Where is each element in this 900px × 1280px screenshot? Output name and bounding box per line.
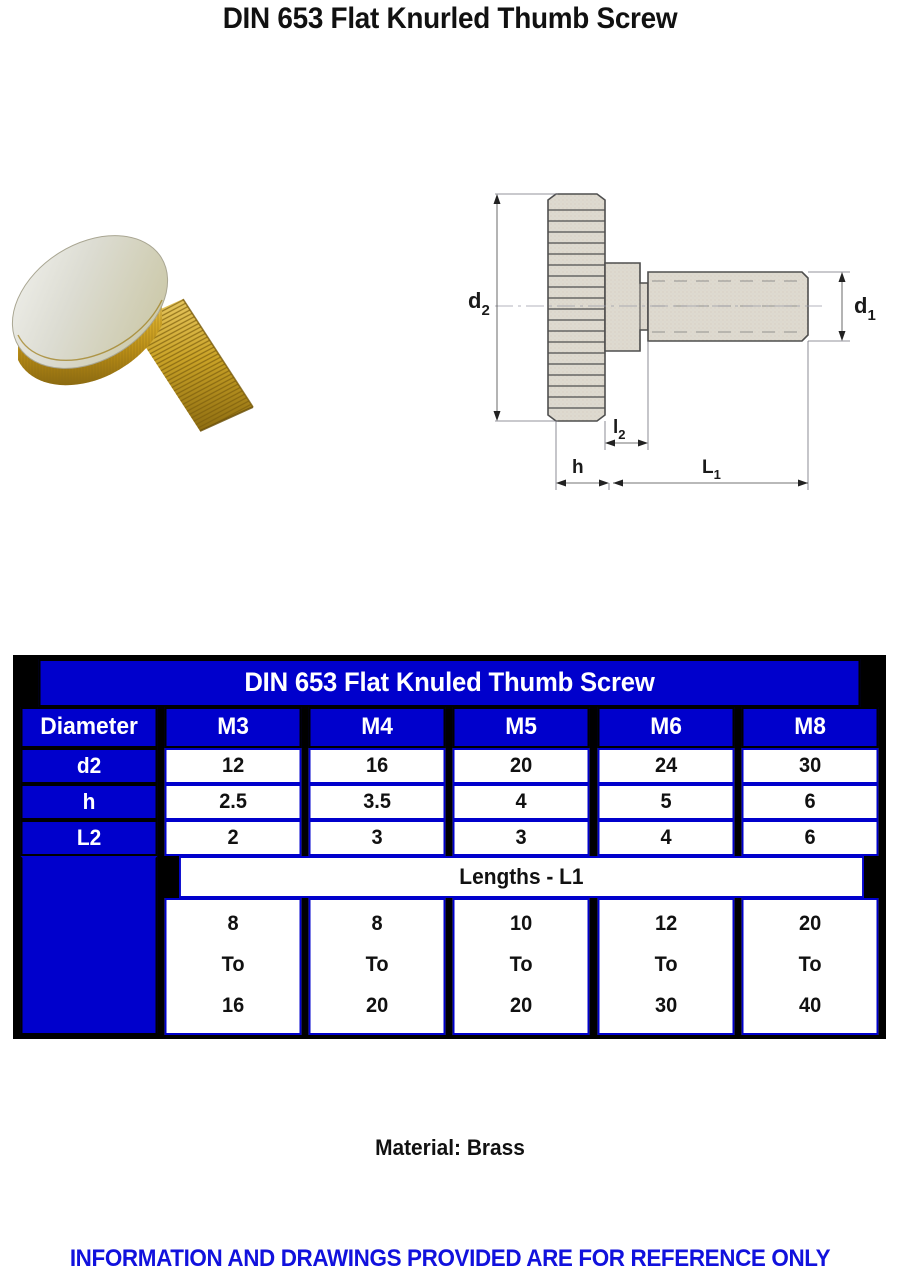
page-title: DIN 653 Flat Knurled Thumb Screw — [32, 2, 869, 36]
length-sep-m8: To — [798, 953, 821, 976]
cell-h-m6: 5 — [597, 784, 734, 820]
product-photo — [10, 195, 285, 440]
length-sep-m6: To — [654, 953, 677, 976]
dimension-h — [556, 421, 609, 490]
table-row: h 2.5 3.5 4 5 6 — [17, 784, 882, 820]
length-max-m6: 30 — [655, 994, 677, 1017]
table-title-row: DIN 653 Flat Knuled Thumb Screw — [17, 659, 882, 707]
length-max-m3: 16 — [222, 994, 244, 1017]
length-min-m4: 8 — [372, 912, 383, 935]
cell-length-m6: 12 To 30 — [597, 898, 734, 1035]
table-row: d2 12 16 20 24 30 — [17, 748, 882, 784]
length-max-m5: 20 — [510, 994, 532, 1017]
cell-length-m3: 8 To 16 — [165, 898, 302, 1035]
cell-d2-m4: 16 — [309, 748, 446, 784]
cell-d2-m8: 30 — [741, 748, 878, 784]
lengths-header: Lengths - L1 — [179, 856, 864, 898]
length-max-m8: 40 — [799, 994, 821, 1017]
cell-d2-m6: 24 — [597, 748, 734, 784]
cell-l2-m8: 6 — [741, 820, 878, 856]
cell-l2-m5: 3 — [453, 820, 590, 856]
dimension-l2 — [605, 341, 648, 450]
header-size-m4: M4 — [309, 707, 446, 748]
dimension-label-d1: d1 — [854, 293, 876, 324]
cell-length-m5: 10 To 20 — [453, 898, 590, 1035]
length-min-m3: 8 — [228, 912, 239, 935]
cell-d2-m5: 20 — [453, 748, 590, 784]
table-title: DIN 653 Flat Knuled Thumb Screw — [39, 659, 861, 707]
cell-h-m4: 3.5 — [309, 784, 446, 820]
cell-length-m4: 8 To 20 — [309, 898, 446, 1035]
length-max-m4: 20 — [366, 994, 388, 1017]
dimension-d1 — [808, 272, 850, 341]
dimension-label-l1: L1 — [702, 457, 721, 482]
drawing-head — [548, 194, 605, 421]
cell-l2-m6: 4 — [597, 820, 734, 856]
dimension-label-l2: l2 — [613, 417, 626, 442]
drawing-shoulder — [605, 263, 648, 351]
dimension-label-h: h — [572, 457, 584, 478]
row-label-d2: d2 — [21, 748, 158, 784]
cell-l2-m3: 2 — [165, 820, 302, 856]
cell-d2-m3: 12 — [165, 748, 302, 784]
lengths-empty-label — [21, 856, 158, 1035]
cell-h-m5: 4 — [453, 784, 590, 820]
row-label-h: h — [21, 784, 158, 820]
header-size-m6: M6 — [597, 707, 734, 748]
lengths-header-row: Lengths - L1 — [17, 856, 882, 898]
header-size-m8: M8 — [741, 707, 878, 748]
specification-table: DIN 653 Flat Knuled Thumb Screw Diameter… — [13, 655, 886, 1039]
length-min-m5: 10 — [510, 912, 532, 935]
header-size-m3: M3 — [165, 707, 302, 748]
drawing-shaft — [495, 272, 822, 341]
length-min-m8: 20 — [799, 912, 821, 935]
cell-h-m3: 2.5 — [165, 784, 302, 820]
header-diameter: Diameter — [21, 707, 158, 748]
length-min-m6: 12 — [655, 912, 677, 935]
reference-disclaimer: INFORMATION AND DRAWINGS PROVIDED ARE FO… — [29, 1245, 871, 1273]
table-header-row: Diameter M3 M4 M5 M6 M8 — [17, 707, 882, 748]
cell-length-m8: 20 To 40 — [741, 898, 878, 1035]
technical-drawing: d2 d1 l2 — [450, 175, 890, 505]
material-note: Material: Brass — [23, 1135, 878, 1161]
row-label-l2: L2 — [21, 820, 158, 856]
length-sep-m3: To — [222, 953, 245, 976]
cell-h-m8: 6 — [741, 784, 878, 820]
length-sep-m5: To — [510, 953, 533, 976]
header-size-m5: M5 — [453, 707, 590, 748]
length-sep-m4: To — [366, 953, 389, 976]
table-row: L2 2 3 3 4 6 — [17, 820, 882, 856]
dimension-label-d2: d2 — [468, 288, 490, 319]
cell-l2-m4: 3 — [309, 820, 446, 856]
